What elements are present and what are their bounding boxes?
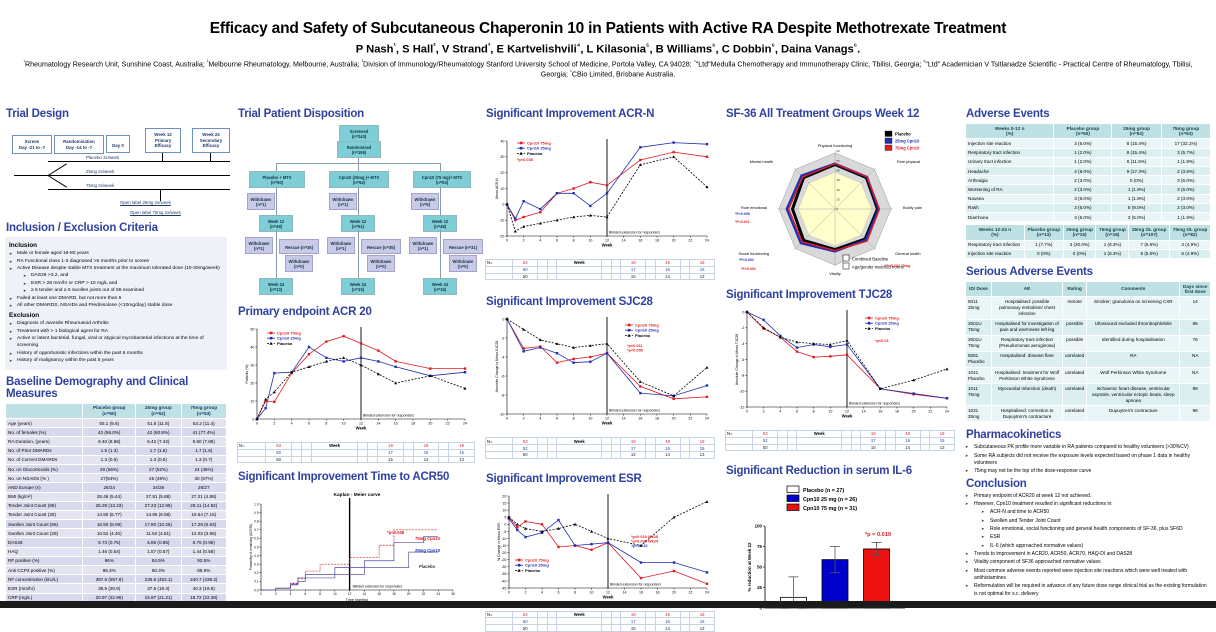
table-header-cell: ID/ Dose (966, 282, 992, 297)
table-cell: 6 (5.0%) (1129, 249, 1170, 258)
svg-text:10: 10 (342, 422, 346, 426)
n-cell (311, 456, 357, 463)
svg-text:20: 20 (407, 592, 411, 596)
trial-design-box-week24: Week 24Secondary Efficacy (192, 128, 230, 153)
n-row-label: N= (726, 431, 753, 438)
table-cell: Hospitalised: treatment for Wolf Perkins… (992, 367, 1063, 383)
svg-text:18: 18 (655, 417, 659, 421)
svg-text:40: 40 (250, 345, 254, 349)
n-cell (851, 431, 861, 438)
n-cell: 14 (655, 451, 680, 458)
row-label: AND Europe (n) (6, 483, 83, 492)
n-cell (403, 456, 413, 463)
table-row: RA Duration, (years)9.40 (8.58)6.42 (7.4… (6, 437, 227, 446)
table-cell: 9.40 (8.58) (83, 437, 136, 446)
table-cell: 26/24 (83, 483, 136, 492)
svg-text:Mean ACR-N: Mean ACR-N (495, 178, 499, 199)
table-row: N=53Week191918 (486, 438, 715, 445)
trial-design-box-week12: Week 12Primary Efficacy (145, 128, 181, 153)
svg-text:Placebo (n = 27): Placebo (n = 27) (803, 488, 844, 494)
list-item: However, Cpn10 treatment resulted in sig… (965, 501, 1211, 509)
n-cell: 18 (449, 443, 475, 450)
table-cell: 88.4% (83, 566, 136, 575)
sjc28-n-table: N=53Week1919185217161550151413 (485, 437, 715, 458)
svg-text:14: 14 (376, 422, 380, 426)
table-cell: 2 (3.0%) (1054, 185, 1112, 194)
flow-box-week24-a: Week 24(n=13) (259, 278, 293, 295)
trial-arm-25mg: 25mg 2x/week (86, 169, 114, 174)
list-item: Trends to improvement in ACR20, ACR50, A… (965, 551, 1211, 559)
table-row: RF positive (%)96%84.5%92.5% (6, 556, 227, 565)
n-cell (680, 611, 690, 618)
row-label: Rash (966, 203, 1054, 212)
table-row: No. on Glucorticoids (%)28 (56%)27 (52%)… (6, 464, 227, 473)
n-cell: 17 (621, 266, 646, 273)
table-row: 1041 PlaceboHospitalised: treatment for … (966, 367, 1211, 383)
n-cell: 16 (413, 449, 439, 456)
table-header-row: Weeks 12-24 n (%)Placebo group (n=13)25m… (966, 225, 1211, 240)
n-cell: 52 (753, 437, 778, 444)
svg-text:Placebo: Placebo (875, 326, 891, 331)
flow-box-randomised: Randomised(n=155) (337, 141, 381, 158)
table-row: Rash3 (6.0%)5 (9.0%)2 (3.0%) (966, 203, 1211, 212)
row-label: Tender Joint Count (28) (6, 510, 83, 519)
n-cell: 14 (655, 625, 680, 632)
n-cell (646, 260, 656, 267)
row-label: No. of Current DMARDs (6, 455, 83, 464)
n-cell (538, 438, 548, 445)
section-title-disposition: Trial Patient Disposition (238, 108, 475, 120)
svg-text:0.3: 0.3 (254, 563, 259, 567)
flow-box-withdrawn-3c: Withdrawn(n=0) (449, 255, 477, 272)
svg-text:-12: -12 (739, 405, 744, 409)
svg-text:8: 8 (813, 410, 815, 414)
row-label: RA Duration, (years) (6, 437, 83, 446)
n-cell: 19 (861, 431, 886, 438)
n-cell (358, 443, 368, 450)
svg-text:-10: -10 (739, 390, 744, 394)
table-cell: 86 (1180, 319, 1211, 335)
table-cell: 17.80 (10.25) (136, 520, 181, 529)
n-cell: 15 (449, 449, 475, 456)
table-row: 2601U 75mgHospitalised for investigation… (966, 319, 1211, 335)
n-cell: 19 (413, 443, 439, 450)
table-cell: 14 (1180, 297, 1211, 319)
n-cell: 13 (449, 456, 475, 463)
svg-text:100: 100 (755, 524, 763, 529)
svg-text:0.6: 0.6 (254, 537, 259, 541)
table-cell: 30 (57%) (181, 474, 226, 483)
table-row: 50151413 (486, 273, 715, 280)
n-cell (787, 431, 797, 438)
n-cell: 15 (930, 437, 955, 444)
table-cell: Hospitalised for investigation of pain a… (992, 319, 1063, 335)
svg-text:6: 6 (796, 410, 798, 414)
n-cell (547, 618, 557, 625)
n-row-label (486, 451, 513, 458)
svg-text:Blinded extension for responde: Blinded extension for responders (849, 402, 900, 406)
svg-text:22: 22 (689, 590, 693, 594)
section-title-acr50: Significant Improvement Time to ACR50 (238, 471, 475, 483)
svg-text:Patients (%): Patients (%) (245, 364, 249, 383)
open-label-25mg: Open label 25mg 2x/week (120, 200, 171, 205)
table-row: 50151413 (486, 451, 715, 458)
row-label: No. on Glucorticoids (%) (6, 464, 83, 473)
svg-text:0: 0 (260, 592, 262, 596)
section-title-il6: Significant Reduction in serum IL-6 (726, 465, 955, 477)
n-row-label (726, 444, 753, 451)
svg-text:General health: General health (895, 251, 921, 256)
svg-text:16: 16 (377, 592, 381, 596)
table-cell: 5.76 (0.98) (181, 538, 226, 547)
svg-text:75: 75 (757, 544, 762, 549)
svg-text:0.4: 0.4 (254, 554, 259, 558)
table-cell: 3 (6.0%) (1054, 139, 1112, 148)
svg-text:20: 20 (912, 410, 916, 414)
n-cell: 50 (513, 625, 538, 632)
n-cell (611, 438, 621, 445)
esr-n-table: N=53Week1919185017161550151413 (485, 611, 715, 632)
section-title-trial-design: Trial Design (6, 108, 227, 120)
svg-text:8: 8 (325, 422, 327, 426)
chart-esr: -45-40-35-30-25-20-15-10-505101520024681… (485, 488, 715, 632)
svg-text:*p<0.035: *p<0.035 (517, 157, 534, 162)
flow-box-withdrawn-2c: Withdrawn(n=1) (409, 237, 437, 254)
n-cell (602, 438, 612, 445)
table-cell: 27(54%) (83, 474, 136, 483)
n-cell (646, 618, 656, 625)
n-cell (547, 273, 557, 280)
exclusion-list: Diagnosis of Juvenile Rheumatoid Arthrit… (9, 321, 223, 365)
chart-il6-bar: Placebo (n = 27)Cpn10 25 mg (n = 26)Cpn1… (725, 480, 955, 620)
svg-text:2: 2 (523, 239, 525, 243)
table-cell: 37.6 (19.4) (136, 584, 181, 593)
section-title-pk: Pharmacokinetics (966, 429, 1211, 441)
table-cell: Hospitalised: correction to Dupuytren's … (992, 406, 1063, 422)
n-cell: 19 (655, 260, 680, 267)
n-cell: 16 (655, 445, 680, 452)
n-cell (602, 611, 612, 618)
svg-text:22: 22 (688, 239, 692, 243)
n-cell (886, 444, 896, 451)
n-cell (301, 443, 311, 450)
adverse-events-table-1: Weeks 0-12 n (%)Placebo group (n=50)25mg… (965, 123, 1211, 222)
table-row: 52171615 (486, 445, 715, 452)
table-cell: 1 (6.3%) (1096, 249, 1129, 258)
table-row: Swollen Joint Count (28)10.52 (4.40)11.5… (6, 529, 227, 538)
table-cell: 1.44 (0.58) (181, 547, 226, 556)
list-item: Treatment with > 1 biological agent for … (9, 329, 223, 336)
n-cell: Week (557, 438, 602, 445)
svg-text:24: 24 (705, 239, 709, 243)
adverse-events-table-2: Weeks 12-24 n (%)Placebo group (n=13)25m… (965, 224, 1211, 259)
svg-text:12: 12 (348, 592, 352, 596)
trial-arm-75mg: 75mg 2x/week (86, 183, 114, 188)
table-cell: 3 (4.9%) (1170, 240, 1211, 249)
table-cell: 9 (17.3%) (1112, 167, 1161, 176)
table-cell: Ischaemic heart disease, ventricular asy… (1087, 384, 1180, 406)
table-cell: 8 (15.4%) (1112, 148, 1161, 157)
chart-tjc28: -12-10-8-6-4-20024681012141618202224Week… (725, 304, 955, 451)
svg-text:10: 10 (590, 590, 594, 594)
table-cell: 28.28 (13.43) (83, 501, 136, 510)
svg-text:Placebo: Placebo (525, 568, 541, 573)
svg-text:-20: -20 (499, 234, 504, 238)
n-cell: 19 (621, 611, 646, 618)
svg-text:0: 0 (506, 239, 508, 243)
list-item: Male or female aged 18-80 years (9, 251, 223, 258)
n-cell (403, 449, 413, 456)
table-cell: 2 (3.0%) (1161, 194, 1210, 203)
table-cell: 80.4% (136, 566, 181, 575)
svg-text:4: 4 (779, 410, 781, 414)
n-cell (778, 431, 788, 438)
svg-text:*p<0.050: *p<0.050 (627, 348, 643, 353)
n-cell (368, 443, 378, 450)
n-cell: 50 (513, 451, 538, 458)
n-cell: 50 (513, 618, 538, 625)
svg-text:10: 10 (588, 239, 592, 243)
section-title-adverse: Adverse Events (966, 108, 1211, 120)
table-header-cell: 25mg OL group (n=107) (1129, 225, 1170, 240)
table-cell: 24/28 (136, 483, 181, 492)
table-header-cell: 25mg group (n=52) (136, 403, 181, 418)
n-cell (611, 273, 621, 280)
table-cell: 0 (0%) (1024, 249, 1063, 258)
list-item: IL-6 (which approached normative values) (981, 543, 1211, 551)
table-cell: 0 (0%) (1063, 249, 1096, 258)
table-cell: 1.3 (0.6) (136, 455, 181, 464)
table-cell: 76 (1180, 335, 1211, 351)
n-cell (538, 625, 548, 632)
trial-design-box-screen: ScreenDay -21 to -7 (12, 135, 52, 154)
n-cell (439, 449, 449, 456)
table-cell: 235.6 (452.1) (136, 575, 181, 584)
n-row-label: N= (238, 443, 266, 450)
table-cell: 27.81 (5.88) (136, 492, 181, 501)
table-cell: 2 (3.0%) (1054, 176, 1112, 185)
table-row: 50151413 (238, 456, 475, 463)
n-cell (851, 444, 861, 451)
table-cell: unrelated (1063, 406, 1087, 422)
table-header-cell: 75mg OL group (n=82) (1170, 225, 1211, 240)
table-cell: 5.86 (0.85) (136, 538, 181, 547)
table-cell: 27.23 (12.95) (136, 501, 181, 510)
n-cell (611, 618, 621, 625)
trial-design-box-randomisation: RandomisationDay -14 to -7 (54, 135, 104, 154)
n-cell: 17 (621, 445, 646, 452)
list-item: ESR > 28 mm/hr or CRP > 10 mg/L and (23, 281, 223, 288)
svg-text:Blinded extension for responde: Blinded extension for responders (609, 409, 660, 413)
table-row: 5011 25mgHospitalised: possible pulmonar… (966, 297, 1211, 319)
svg-text:24: 24 (945, 410, 949, 414)
n-cell (646, 266, 656, 273)
table-cell: 89 (1180, 384, 1211, 406)
svg-text:0: 0 (502, 318, 504, 322)
n-cell: 14 (895, 444, 920, 451)
svg-text:14: 14 (363, 592, 367, 596)
svg-text:8: 8 (573, 417, 575, 421)
n-cell (547, 451, 557, 458)
row-label: Urinary tract infection (966, 157, 1054, 166)
row-label: Injection site reaction (966, 249, 1025, 258)
table-cell: 3 (20.0%) (1063, 240, 1096, 249)
flow-box-arm-75mg: Cpn10 (75 mg)+ MTX(n=53) (413, 171, 471, 188)
n-cell (797, 444, 842, 451)
row-label: Respiratory tract infection (966, 240, 1025, 249)
row-label: 5081 Placebo (966, 351, 992, 367)
row-label: RF concentration (kIU/L) (6, 575, 83, 584)
row-label: DAS28 (6, 538, 83, 547)
n-cell (538, 260, 548, 267)
table-cell: 4 (8.0%) (1054, 167, 1112, 176)
svg-text:*p<0.01: *p<0.01 (875, 338, 890, 343)
n-row-label (486, 266, 513, 273)
table-cell: 14.80 (6.77) (83, 510, 136, 519)
n-cell (778, 437, 788, 444)
n-cell: 14 (413, 456, 439, 463)
list-item: Role emotional, social functioning and g… (981, 526, 1211, 534)
table-cell: 2 (3.0%) (1161, 203, 1210, 212)
svg-text:0.8: 0.8 (254, 520, 259, 524)
svg-text:Role emotional: Role emotional (741, 205, 767, 210)
svg-text:16: 16 (394, 422, 398, 426)
n-cell: Week (311, 443, 357, 450)
column-5: Adverse Events Weeks 0-12 n (%)Placebo g… (960, 104, 1216, 608)
svg-text:0.1: 0.1 (254, 580, 259, 584)
n-cell: 18 (690, 260, 715, 267)
n-cell: 53 (266, 443, 292, 450)
list-item: ≥ 6 tender and ≥ 6 swollen joints out of… (23, 288, 223, 295)
n-cell: 13 (690, 451, 715, 458)
table-row: 2601U 75mgRespiratory tract infection (P… (966, 335, 1211, 351)
table-cell: Respiratory tract infection (Pseudomonas… (992, 335, 1063, 351)
table-cell: 28.46 (5.44) (83, 492, 136, 501)
svg-text:10: 10 (588, 417, 592, 421)
table-cell: 1.46 (0.54) (83, 547, 136, 556)
n-row-label (486, 618, 513, 625)
trial-arm-placebo: Placebo 2x/week (86, 155, 119, 160)
table-cell: 28 (56%) (83, 464, 136, 473)
svg-text:Week: Week (602, 421, 614, 426)
svg-text:0.5: 0.5 (254, 546, 259, 550)
n-cell (778, 444, 788, 451)
n-cell (538, 618, 548, 625)
n-cell (557, 618, 602, 625)
svg-text:*P<0.011: *P<0.011 (735, 220, 750, 224)
svg-text:2: 2 (525, 590, 527, 594)
svg-text:16: 16 (638, 417, 642, 421)
n-cell: 19 (621, 438, 646, 445)
n-cell (291, 449, 301, 456)
table-row: N=53Week191918 (486, 260, 715, 267)
svg-text:50: 50 (757, 565, 762, 570)
section-title-serious: Serious Adverse Events (966, 266, 1211, 278)
svg-text:Placebo: Placebo (527, 151, 543, 156)
n-cell: 50 (266, 456, 292, 463)
table-row: Anti CCP3 positive (%)88.4%80.4%88.9% (6, 566, 227, 575)
svg-text:Week: Week (603, 594, 615, 599)
table-row: 1011 75mgMyocardial Infarction (death)un… (966, 384, 1211, 406)
list-item: Swollen and Tender Joint Count (981, 518, 1211, 526)
svg-text:-6: -6 (741, 358, 744, 362)
list-item: ESR (981, 534, 1211, 542)
table-cell: Identified during hospitalisation (1087, 335, 1180, 351)
row-label: BMI (kg/m²) (6, 492, 83, 501)
svg-text:Week: Week (356, 426, 368, 431)
svg-text:1.0: 1.0 (254, 503, 259, 507)
list-item: Diagnosis of Juvenile Rheumatoid Arthrit… (9, 321, 223, 328)
flow-box-rescue-b: Rescue (n=35) (361, 239, 401, 254)
flow-box-week24-c: Week 24(n=16) (423, 278, 457, 295)
trial-design-diagram: ScreenDay -21 to -7 RandomisationDay -14… (8, 123, 233, 218)
table-cell: unrelated (1063, 351, 1087, 367)
n-cell (842, 437, 852, 444)
svg-text:% Change in Mean ESR: % Change in Mean ESR (497, 522, 501, 560)
n-cell: 19 (655, 438, 680, 445)
table-cell: 6 (11.5%) (1112, 157, 1161, 166)
n-cell: 15 (690, 445, 715, 452)
svg-text:20: 20 (428, 422, 432, 426)
svg-text:20: 20 (837, 188, 841, 192)
svg-text:22: 22 (422, 592, 426, 596)
svg-text:26: 26 (451, 592, 455, 596)
svg-text:4: 4 (291, 422, 293, 426)
table-cell: 43 (86.0%) (83, 428, 136, 437)
list-item: Primary endpoint of ACR20 at week 12 not… (965, 493, 1211, 501)
table-cell: 28.11 (14.92) (181, 501, 226, 510)
table-row: 50171615 (486, 266, 715, 273)
row-label: 1041 Placebo (966, 367, 992, 383)
table-row: Respiratory tract infection1 (7.7%)3 (20… (966, 240, 1211, 249)
svg-text:*P<0.001: *P<0.001 (741, 267, 756, 271)
list-item: Subcutaneous PK profile more variable in… (965, 444, 1211, 452)
svg-text:25mg Cpn10: 25mg Cpn10 (415, 548, 441, 553)
n-cell: 15 (378, 456, 404, 463)
svg-text:18: 18 (655, 239, 659, 243)
serious-adverse-events-table: ID/ DoseAERatingCommentsDays since first… (965, 281, 1211, 422)
svg-text:14: 14 (622, 417, 626, 421)
svg-text:-20: -20 (501, 551, 506, 555)
table-row: RF concentration (kIU/L)397.6 (597.8)235… (6, 575, 227, 584)
svg-text:6: 6 (308, 422, 310, 426)
column-4: SF-36 All Treatment Groups Week 12 01020… (720, 104, 960, 608)
svg-text:16: 16 (639, 590, 643, 594)
svg-text:10: 10 (500, 187, 504, 191)
n-cell (358, 456, 368, 463)
n-cell (611, 611, 621, 618)
n-cell (538, 266, 548, 273)
table-cell: 51.6 (11.8) (136, 419, 181, 428)
svg-text:0.2: 0.2 (254, 571, 259, 575)
page-title: Efficacy and Safety of Subcutaneous Chap… (14, 20, 1202, 38)
n-cell (611, 266, 621, 273)
table-cell: 240.7 (439.2) (181, 575, 226, 584)
list-item: All other DMARDS, NSAIDs and Prednisolon… (9, 303, 223, 310)
table-cell: remote (1063, 297, 1087, 319)
n-cell (602, 273, 612, 280)
list-item: 75mg may not be the top of the dose-resp… (965, 468, 1211, 476)
svg-text:Absolute Change in Mean TJC28: Absolute Change in Mean TJC28 (735, 334, 739, 386)
n-cell (920, 444, 930, 451)
table-row: 50151413 (486, 625, 715, 632)
table-cell: 41 (77.4%) (181, 428, 226, 437)
row-label: Worsening of RA (966, 185, 1054, 194)
n-cell (538, 445, 548, 452)
n-cell: 16 (655, 618, 680, 625)
svg-text:-8: -8 (741, 374, 744, 378)
svg-text:2: 2 (763, 410, 765, 414)
